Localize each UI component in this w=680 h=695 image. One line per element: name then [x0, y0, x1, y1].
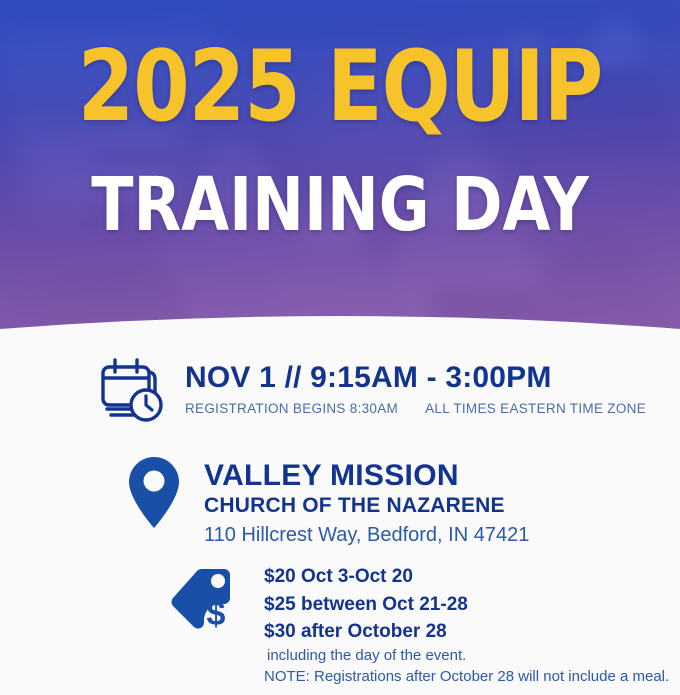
- venue-organization: CHURCH OF THE NAZARENE: [204, 494, 529, 518]
- calendar-clock-icon: [95, 355, 167, 423]
- pricing-row: $ $20 Oct 3-Oct 20 $25 between Oct 21-28…: [168, 563, 669, 687]
- hero-banner: 2025 EQUIP TRAINING DAY: [0, 0, 680, 345]
- registration-time-note: REGISTRATION BEGINS 8:30AM: [185, 402, 398, 416]
- page-subtitle: TRAINING DAY: [24, 168, 656, 242]
- date-time-subtexts: REGISTRATION BEGINS 8:30AM ALL TIMES EAS…: [185, 402, 646, 416]
- svg-text:$: $: [207, 595, 226, 633]
- timezone-note: ALL TIMES EASTERN TIME ZONE: [425, 402, 646, 416]
- date-time-headline: NOV 1 // 9:15AM - 3:00PM: [185, 363, 646, 393]
- location-row: VALLEY MISSION CHURCH OF THE NAZARENE 11…: [126, 455, 529, 547]
- page-title: 2025 EQUIP: [27, 38, 653, 136]
- venue-address: 110 Hillcrest Way, Bedford, IN 47421: [204, 523, 529, 547]
- price-including-note: including the day of the event.: [267, 646, 669, 666]
- price-meal-note: NOTE: Registrations after October 28 wil…: [264, 667, 669, 687]
- curved-divider: [0, 307, 680, 345]
- location-texts: VALLEY MISSION CHURCH OF THE NAZARENE 11…: [204, 455, 529, 547]
- price-tier-3: $30 after October 28: [264, 618, 669, 646]
- price-tier-1: $20 Oct 3-Oct 20: [264, 563, 669, 591]
- date-time-row: NOV 1 // 9:15AM - 3:00PM REGISTRATION BE…: [95, 355, 646, 423]
- price-tier-2: $25 between Oct 21-28: [264, 591, 669, 619]
- hero-title-group: 2025 EQUIP TRAINING DAY: [0, 0, 680, 345]
- date-time-texts: NOV 1 // 9:15AM - 3:00PM REGISTRATION BE…: [185, 355, 646, 416]
- event-flyer: 2025 EQUIP TRAINING DAY: [0, 0, 680, 695]
- price-tag-icon: $: [168, 563, 240, 633]
- venue-name: VALLEY MISSION: [204, 461, 529, 492]
- map-pin-icon: [126, 455, 182, 531]
- pricing-texts: $20 Oct 3-Oct 20 $25 between Oct 21-28 $…: [264, 563, 669, 687]
- info-section: NOV 1 // 9:15AM - 3:00PM REGISTRATION BE…: [0, 345, 680, 695]
